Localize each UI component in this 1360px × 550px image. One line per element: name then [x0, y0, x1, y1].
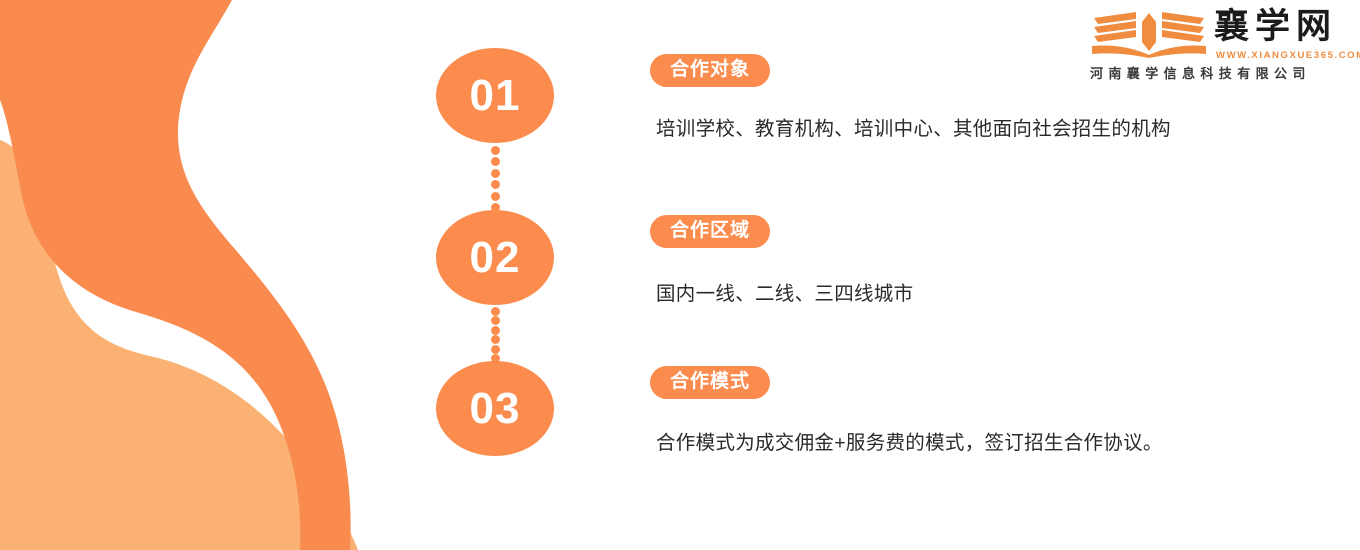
- section-body-2: 国内一线、二线、三四线城市: [656, 278, 1176, 310]
- section-cooperation-region: 合作区域 国内一线、二线、三四线城市: [650, 215, 1290, 310]
- section-cooperation-model: 合作模式 合作模式为成交佣金+服务费的模式，签订招生合作协议。: [650, 366, 1290, 459]
- section-cooperation-target: 合作对象 培训学校、教育机构、培训中心、其他面向社会招生的机构: [650, 54, 1290, 145]
- timeline-node-01: 01: [436, 48, 554, 143]
- background-wave-decoration: [0, 0, 440, 550]
- connector-dot: [491, 180, 500, 189]
- timeline-connector-dots-2: [489, 307, 501, 363]
- connector-dot: [491, 316, 500, 325]
- timeline-node-03: 03: [436, 361, 554, 456]
- slide-canvas: 襄学网 WWW.XIANGXUE365.COM 河南襄学信息科技有限公司 01 …: [0, 0, 1360, 550]
- section-body-1: 培训学校、教育机构、培训中心、其他面向社会招生的机构: [656, 113, 1176, 145]
- connector-dot: [491, 146, 500, 155]
- connector-dot: [491, 335, 500, 344]
- connector-dot: [491, 307, 500, 316]
- section-badge-3: 合作模式: [650, 366, 770, 399]
- wave-light-shape: [0, 140, 358, 550]
- connector-dot: [491, 326, 500, 335]
- section-body-3: 合作模式为成交佣金+服务费的模式，签订招生合作协议。: [656, 427, 1216, 459]
- connector-dot: [491, 345, 500, 354]
- timeline-node-02: 02: [436, 210, 554, 305]
- wave-dark-shape: [0, 0, 351, 550]
- connector-dot: [491, 157, 500, 166]
- connector-dot: [491, 192, 500, 201]
- timeline-connector-dots-1: [489, 146, 501, 212]
- section-badge-1: 合作对象: [650, 54, 770, 87]
- timeline-rail: 01 02 03: [430, 0, 560, 550]
- connector-dot: [491, 169, 500, 178]
- section-badge-2: 合作区域: [650, 215, 770, 248]
- content-column: 合作对象 培训学校、教育机构、培训中心、其他面向社会招生的机构 合作区域 国内一…: [650, 0, 1310, 550]
